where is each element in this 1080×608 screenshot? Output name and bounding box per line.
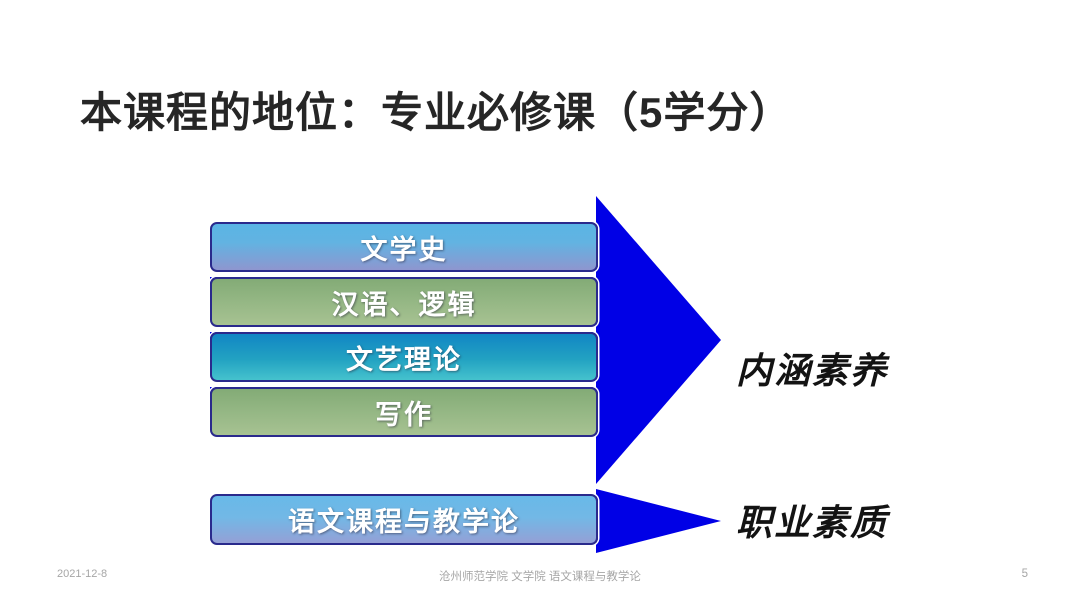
footer-center-text: 沧州师范学院 文学院 语文课程与教学论: [0, 568, 1080, 584]
slide-canvas: 本课程的地位：专业必修课（5学分） 文学史 汉语、逻辑 文艺理论 写作: [0, 0, 1080, 608]
course-box-label: 语文课程与教学论: [288, 500, 520, 539]
course-box-literature-history[interactable]: 文学史: [210, 222, 598, 272]
course-box-label: 文艺理论: [346, 338, 462, 377]
course-box-chinese-logic[interactable]: 汉语、逻辑: [210, 277, 598, 327]
course-box-label: 写作: [375, 393, 433, 432]
small-right-arrow-icon: [596, 489, 721, 553]
professional-course-stack: 语文课程与教学论: [210, 494, 598, 545]
course-box-label: 汉语、逻辑: [332, 283, 477, 322]
large-right-arrow-icon: [596, 196, 721, 484]
course-box-chinese-pedagogy[interactable]: 语文课程与教学论: [210, 494, 598, 545]
outcome-label-intrinsic-literacy: 内涵素养: [736, 342, 888, 394]
outcome-label-professional-quality: 职业素质: [736, 494, 888, 546]
slide-footer: 2021-12-8 沧州师范学院 文学院 语文课程与教学论 5: [0, 560, 1080, 608]
course-structure-diagram: 文学史 汉语、逻辑 文艺理论 写作 语文课程与教学论 内涵素养 职业素质: [0, 0, 1080, 560]
course-box-writing[interactable]: 写作: [210, 387, 598, 437]
course-box-literary-theory[interactable]: 文艺理论: [210, 332, 598, 382]
course-box-label: 文学史: [361, 228, 448, 267]
inner-course-stack: 文学史 汉语、逻辑 文艺理论 写作: [210, 222, 598, 442]
footer-page-number: 5: [1022, 568, 1028, 580]
